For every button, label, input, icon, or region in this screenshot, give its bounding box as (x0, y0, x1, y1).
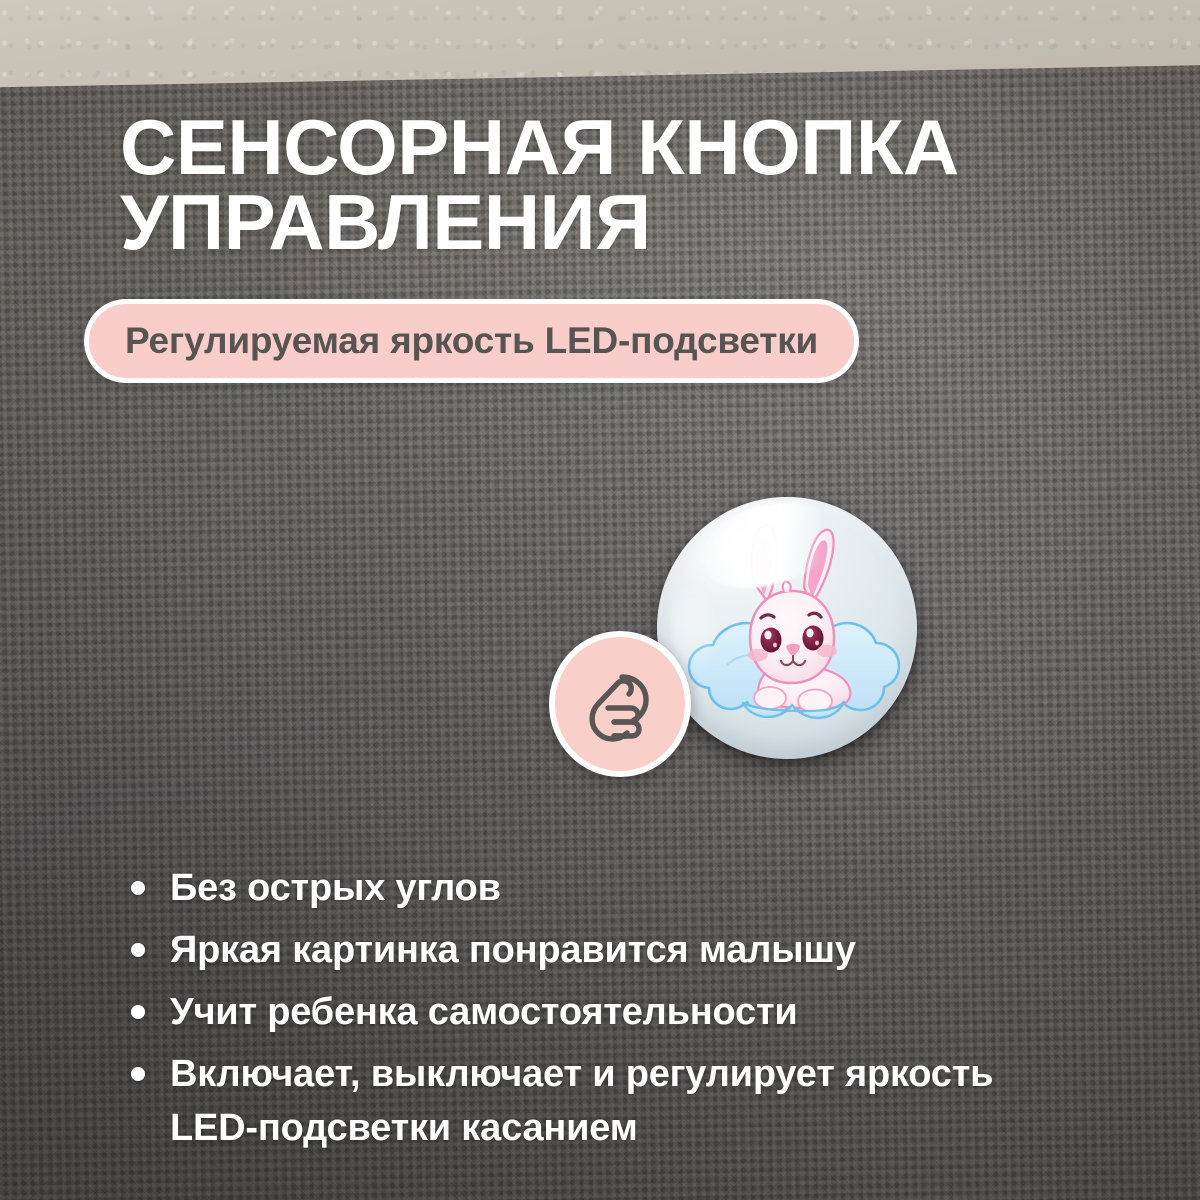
touch-gesture-badge (549, 631, 691, 777)
bunny-eye-left (761, 628, 782, 653)
product-image-touch-button (657, 497, 917, 759)
bunny-cheek-left (748, 649, 768, 661)
bunny-head (748, 582, 837, 683)
title-line-2: Управления (120, 185, 1050, 260)
feature-badge-label: Регулируемая яркость LED-подсветки (125, 320, 818, 362)
page-title: Сенсорная кнопка Управления (120, 110, 1050, 260)
list-item: Без острых углов (125, 862, 1085, 916)
bunny-cloud-artwork (657, 497, 917, 759)
bunny-cheek-right (817, 645, 837, 657)
list-item: Учит ребенка самостоятельности (125, 986, 1085, 1040)
list-item: Включает, выключает и регулирует яркость… (125, 1048, 1085, 1156)
product-poster: Сенсорная кнопка Управления Регулируемая… (0, 0, 1200, 1200)
feature-badge: Регулируемая яркость LED-подсветки (84, 299, 859, 383)
feature-list: Без острых углов Яркая картинка понравит… (125, 862, 1085, 1164)
list-item: Яркая картинка понравится малышу (125, 924, 1085, 978)
touch-tap-hand-icon (574, 658, 666, 750)
